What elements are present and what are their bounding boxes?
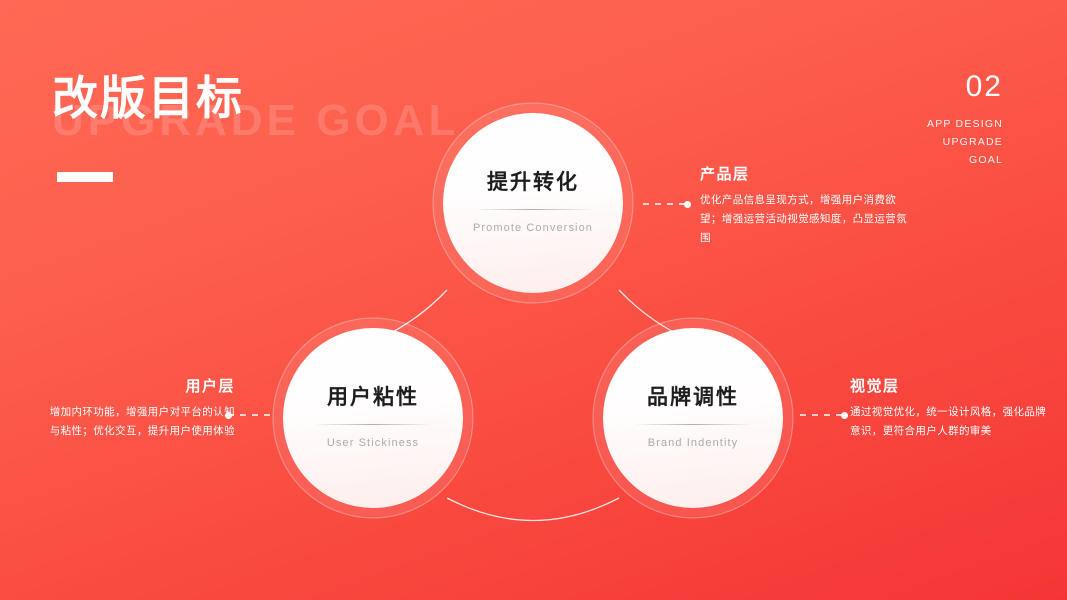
node-brand-identity[interactable]: 品牌调性 Brand Indentity [603,328,783,508]
callout-body: 增加内环功能，增强用户对平台的认知与粘性；优化交互，提升用户使用体验 [40,403,235,441]
node-promote-conversion[interactable]: 提升转化 Promote Conversion [443,113,623,293]
callout-heading: 用户层 [40,379,235,394]
node-user-stickiness[interactable]: 用户粘性 User Stickiness [283,328,463,508]
callout-body: 通过视觉优化，统一设计风格，强化品牌意识，更符合用户人群的审美 [850,403,1050,441]
node-title: 品牌调性 [647,387,739,408]
callout-heading: 产品层 [700,167,915,182]
node-title: 用户粘性 [327,387,419,408]
callout-product-layer: 产品层 优化产品信息呈现方式，增强用户消费欲望；增强运营活动视觉感知度，凸显运营… [700,167,915,248]
venn-diagram: 提升转化 Promote Conversion 用户粘性 User Sticki… [0,0,1067,600]
leader-dot-product [684,201,691,208]
callout-visual-layer: 视觉层 通过视觉优化，统一设计风格，强化品牌意识，更符合用户人群的审美 [850,379,1050,441]
node-subtitle: User Stickiness [327,438,419,449]
slide-canvas: UPGRADE GOAL 改版目标 02 APP DESIGN UPGRADE … [0,0,1067,600]
connector-lines [0,0,1067,600]
node-title: 提升转化 [487,172,579,193]
arc-left-right [447,498,619,521]
node-divider [474,209,592,210]
node-divider [634,424,752,425]
node-subtitle: Promote Conversion [473,223,593,234]
node-subtitle: Brand Indentity [648,438,739,449]
callout-user-layer: 用户层 增加内环功能，增强用户对平台的认知与粘性；优化交互，提升用户使用体验 [40,379,235,441]
callout-heading: 视觉层 [850,379,1050,394]
leader-dot-visual [841,412,848,419]
node-divider [314,424,432,425]
callout-body: 优化产品信息呈现方式，增强用户消费欲望；增强运营活动视觉感知度，凸显运营氛围 [700,191,915,248]
